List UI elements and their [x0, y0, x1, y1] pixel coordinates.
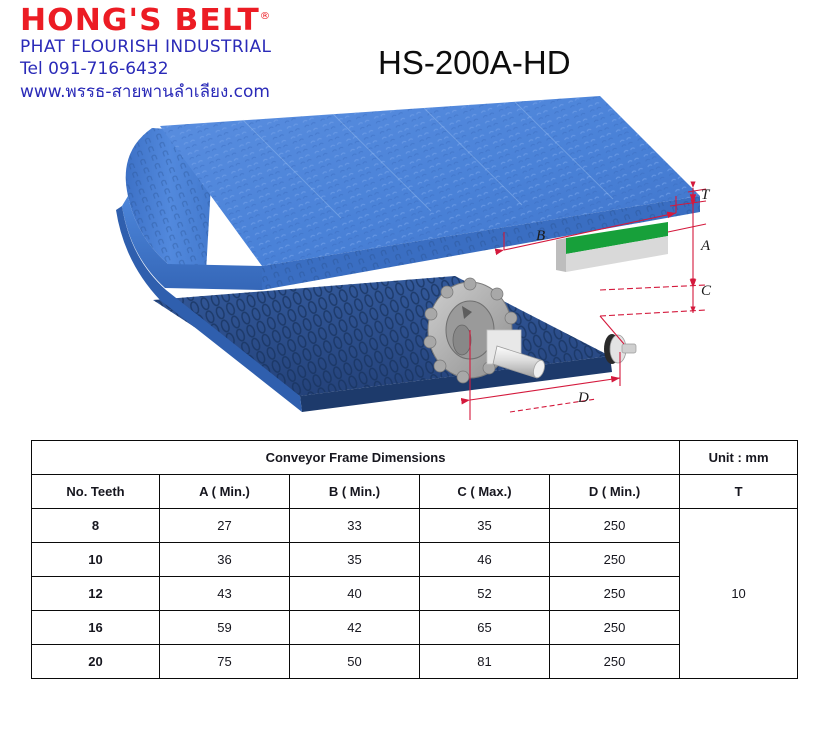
cell-a: 36 [160, 543, 290, 577]
company-logo: HONG'S BELT® [20, 6, 374, 36]
cell-d: 250 [550, 543, 680, 577]
brand-header: HONG'S BELT® PHAT FLOURISH INDUSTRIAL Te… [20, 6, 360, 103]
cell-d: 250 [550, 509, 680, 543]
table-unit: Unit : mm [680, 441, 798, 475]
table-header-row: No. Teeth A ( Min.) B ( Min.) C ( Max.) … [32, 475, 798, 509]
cell-teeth: 10 [32, 543, 160, 577]
cell-teeth: 12 [32, 577, 160, 611]
cell-teeth: 8 [32, 509, 160, 543]
cell-b: 40 [290, 577, 420, 611]
column-header-b: B ( Min.) [290, 475, 420, 509]
table-title: Conveyor Frame Dimensions [32, 441, 680, 475]
cell-t: 10 [680, 509, 798, 679]
cell-teeth: 20 [32, 645, 160, 679]
table-title-row: Conveyor Frame Dimensions Unit : mm [32, 441, 798, 475]
column-header-d: D ( Min.) [550, 475, 680, 509]
product-model-title: HS-200A-HD [378, 44, 571, 82]
cell-a: 75 [160, 645, 290, 679]
spec-table-container: Conveyor Frame Dimensions Unit : mm No. … [31, 440, 797, 679]
company-name: PHAT FLOURISH INDUSTRIAL [20, 36, 360, 58]
column-header-teeth: No. Teeth [32, 475, 160, 509]
registered-trademark-icon: ® [260, 11, 271, 22]
cell-d: 250 [550, 577, 680, 611]
dimension-label-T: T [701, 187, 711, 203]
cell-a: 59 [160, 611, 290, 645]
cell-b: 33 [290, 509, 420, 543]
dimension-label-D: D [577, 390, 589, 406]
table-row: 8 27 33 35 250 10 [32, 509, 798, 543]
cell-c: 65 [420, 611, 550, 645]
dimension-label-A: A [700, 238, 711, 254]
column-header-t: T [680, 475, 798, 509]
cell-c: 81 [420, 645, 550, 679]
product-spec-sheet: T A C B D HONG'S BELT® PHAT FLOURISH IND… [0, 0, 828, 756]
cell-c: 35 [420, 509, 550, 543]
logo-wordmark: HONG'S BELT [20, 3, 260, 38]
cell-c: 52 [420, 577, 550, 611]
column-header-c: C ( Max.) [420, 475, 550, 509]
dimension-label-B: B [536, 228, 545, 244]
cell-b: 50 [290, 645, 420, 679]
dimension-label-C: C [701, 283, 712, 299]
cell-d: 250 [550, 611, 680, 645]
cell-a: 43 [160, 577, 290, 611]
cell-c: 46 [420, 543, 550, 577]
cell-a: 27 [160, 509, 290, 543]
cell-d: 250 [550, 645, 680, 679]
conveyor-frame-dimensions-table: Conveyor Frame Dimensions Unit : mm No. … [31, 440, 798, 679]
column-header-a: A ( Min.) [160, 475, 290, 509]
cell-teeth: 16 [32, 611, 160, 645]
company-website: www.พรรธ-สายพานลำเลียง.com [20, 81, 360, 103]
company-phone: Tel 091-716-6432 [20, 58, 360, 80]
cell-b: 42 [290, 611, 420, 645]
cell-b: 35 [290, 543, 420, 577]
